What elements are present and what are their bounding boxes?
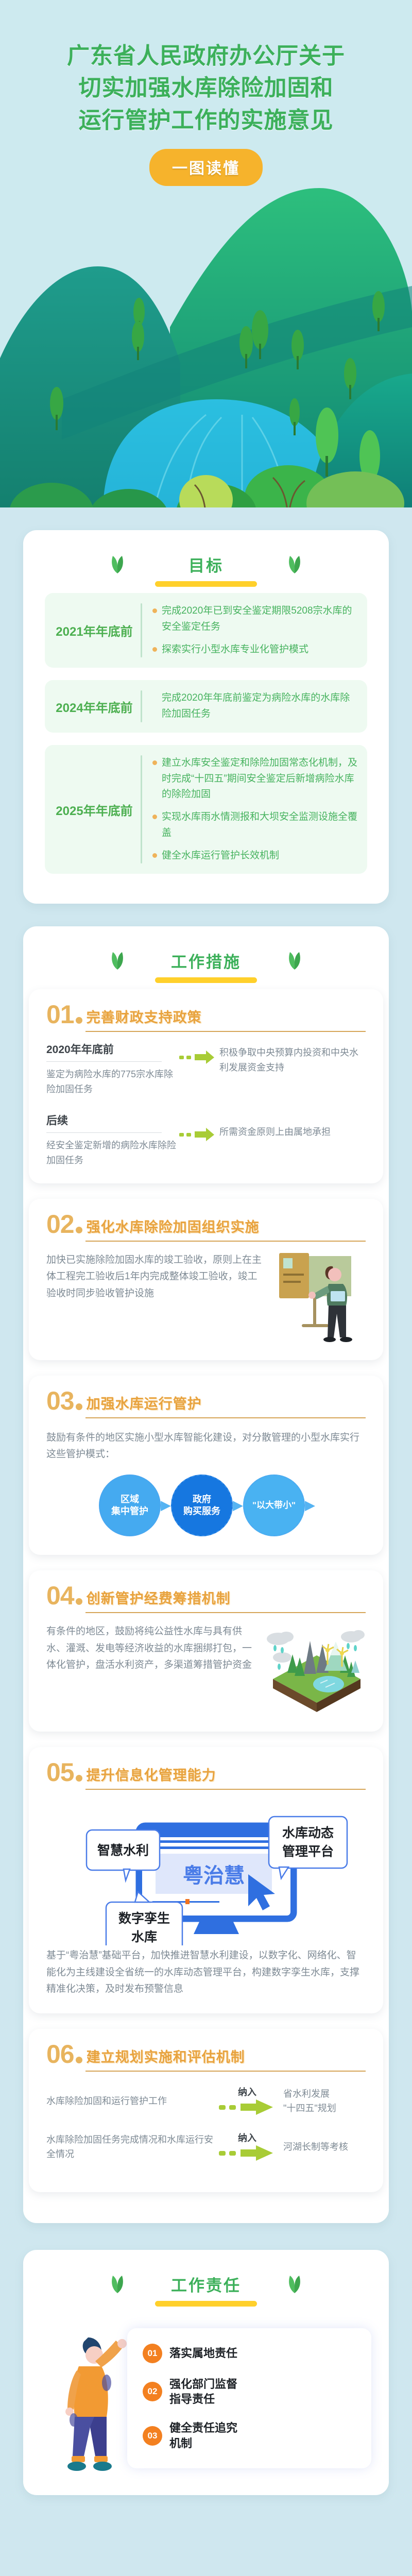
goals-header: 目标 (23, 530, 389, 593)
dashed-arrow-icon (219, 2145, 276, 2161)
flow-connector: 纳入 (216, 2131, 278, 2163)
measure-rule (85, 2071, 366, 2072)
measure-title: 提升信息化管理能力 (87, 1769, 216, 1784)
goal-item: 完成2020年已到安全鉴定期限5208宗水库的安全鉴定任务 (152, 603, 358, 635)
flow-target: 河湖长制等考核 (278, 2140, 366, 2155)
goal-year: 2025年年底前 (54, 801, 141, 819)
goal-item-text: 建立水库安全鉴定和除险加固常态化机制，及时完成“十四五”期间安全鉴定后新增病险水… (162, 755, 358, 803)
read-in-one-picture-badge: 一图读懂 (149, 149, 263, 186)
title-line-1: 广东省人民政府办公厅关于 (0, 40, 412, 72)
measure-card-06: 06 建立规划实施和评估机制 水库除险加固和运行管护工作 纳入 省水利发展 "十… (29, 2029, 383, 2192)
bullet-dot-icon (152, 647, 157, 652)
bullet-dot-icon (152, 760, 157, 765)
measure-head: 03 加强水库运行管护 (46, 1389, 366, 1413)
measure-number: 02 (46, 1212, 74, 1236)
measure-head: 05 提升信息化管理能力 (46, 1760, 366, 1784)
pill-big-leads-small: "以大带小" (243, 1475, 305, 1536)
responsibility-body: 01 落实属地责任 02 强化部门监督 指导责任 03 健全责任追究 机制 (23, 2326, 389, 2495)
responsibility-number: 01 (143, 2344, 162, 2363)
measures-card: 工作措施 01 完善财政支持政策 2020年年底前 鉴定为病险水库的775宗水库… (23, 926, 389, 2223)
bullet-dot-icon (152, 815, 157, 819)
measure-body: 有条件的地区，鼓励将纯公益性水库与具有供水、灌溉、发电等经济收益的水库捆绑打包，… (46, 1623, 263, 1674)
responsibility-item: 01 落实属地责任 (143, 2344, 358, 2363)
flow-divider (46, 1132, 162, 1133)
measure-number: 01 (46, 1003, 74, 1026)
goal-item-text: 完成2020年已到安全鉴定期限5208宗水库的安全鉴定任务 (162, 603, 358, 635)
measure-dot-icon (76, 1598, 82, 1605)
bullet-dot-icon (152, 696, 157, 700)
goal-row: 2021年年底前 完成2020年已到安全鉴定期限5208宗水库的安全鉴定任务 探… (45, 593, 367, 668)
measure-card-04: 04 创新管护经费筹措机制 有条件的地区，鼓励将纯公益性水库与具有供水、灌溉、发… (29, 1570, 383, 1732)
measure-title: 完善财政支持政策 (87, 1011, 202, 1026)
evaluation-flow-row: 水库除险加固和运行管护工作 纳入 省水利发展 "十四五"规划 (46, 2085, 366, 2117)
svg-text:管理平台: 管理平台 (282, 1844, 334, 1859)
callout-reservoir-platform: 水库动态 管理平台 (269, 1817, 347, 1878)
goal-item-text: 探索实行小型水库专业化管护模式 (162, 642, 308, 658)
flow-result: 积极争取中央预算内投资和中央水利发展资金支持 (219, 1041, 366, 1075)
dashed-arrow-icon (219, 2099, 276, 2115)
goal-item: 健全水库运行管护长效机制 (152, 848, 358, 864)
measure-dot-icon (76, 2057, 82, 2063)
flow-when: 2020年年底前 (46, 1041, 179, 1057)
measure-number: 04 (46, 1584, 74, 1607)
svg-text:数字孪生: 数字孪生 (118, 1911, 170, 1926)
measure-title: 强化水库除险加固组织实施 (87, 1221, 260, 1236)
flow-target: 省水利发展 "十四五"规划 (278, 2087, 366, 2116)
responsibility-item: 03 健全责任追究 机制 (143, 2420, 358, 2451)
measure-card-05: 05 提升信息化管理能力 (29, 1747, 383, 2013)
goals-card: 目标 2021年年底前 完成2020年已到安全鉴定期限5208宗水库的安全鉴定任… (23, 530, 389, 904)
person-pointing-illustration (41, 2326, 139, 2470)
mountain-river-illustration (0, 157, 412, 507)
flow-left: 2020年年底前 鉴定为病险水库的775宗水库除险加固任务 (46, 1041, 179, 1097)
smart-water-platform-diagram: 粤治慧 智慧水利 水库动态 管理平台 (46, 1796, 366, 1945)
responsibility-text: 落实属地责任 (169, 2346, 237, 2361)
measure-dot-icon (76, 1227, 82, 1233)
leaf-icon (110, 555, 125, 573)
management-mode-pills: 区域 集中管护 ▶ 政府 购买服务 ▶ "以大带小" ▶ (46, 1475, 366, 1539)
goal-items: 建立水库安全鉴定和除险加固常态化机制，及时完成“十四五”期间安全鉴定后新增病险水… (142, 755, 358, 864)
leaf-icon (287, 951, 302, 970)
pill-label: "以大带小" (252, 1500, 296, 1511)
responsibility-number: 02 (143, 2382, 162, 2401)
isometric-landscape-icon (263, 1623, 366, 1716)
measure-card-03: 03 加强水库运行管护 鼓励有条件的地区实施小型水库智能化建设，对分散管理的小型… (29, 1376, 383, 1555)
measures-underline (155, 977, 257, 983)
flow-what: 鉴定为病险水库的775宗水库除险加固任务 (46, 1067, 179, 1097)
measure-flow-row: 后续 经安全鉴定新增的病险水库除险加固任务 所需资金原则上由属地承担 (46, 1112, 366, 1168)
flow-left: 后续 经安全鉴定新增的病险水库除险加固任务 (46, 1112, 179, 1168)
goal-year: 2021年年底前 (54, 621, 141, 639)
goals-section-title: 目标 (188, 553, 224, 578)
measure-card-01: 01 完善财政支持政策 2020年年底前 鉴定为病险水库的775宗水库除险加固任… (29, 989, 383, 1183)
measure-body-row: 有条件的地区，鼓励将纯公益性水库与具有供水、灌溉、发电等经济收益的水库捆绑打包，… (46, 1623, 366, 1716)
arrow-right-icon: ▶ (161, 1497, 171, 1513)
measure-title: 建立规划实施和评估机制 (87, 2050, 245, 2066)
goal-item-text: 健全水库运行管护长效机制 (162, 848, 279, 864)
flow-label: 纳入 (216, 2131, 278, 2144)
goal-item: 建立水库安全鉴定和除险加固常态化机制，及时完成“十四五”期间安全鉴定后新增病险水… (152, 755, 358, 803)
page-title: 广东省人民政府办公厅关于 切实加强水库除险加固和 运行管护工作的实施意见 (0, 0, 412, 137)
goal-item: 实现水库雨水情测报和大坝安全监测设施全覆盖 (152, 809, 358, 841)
goal-items: 完成2020年已到安全鉴定期限5208宗水库的安全鉴定任务 探索实行小型水库专业… (142, 603, 358, 657)
measure-body: 鼓励有条件的地区实施小型水库智能化建设，对分散管理的小型水库实行这些管护模式： (46, 1430, 366, 1463)
hero-badge-wrap: 一图读懂 (0, 149, 412, 186)
measure-body-row: 加快已实施除险加固水库的竣工验收，原则上在主体工程完工验收后1年内完成整体竣工验… (46, 1252, 366, 1345)
goal-item: 完成2020年年底前鉴定为病险水库的水库除险加固任务 (152, 690, 358, 722)
responsibility-scroll: 01 落实属地责任 02 强化部门监督 指导责任 03 健全责任追究 机制 (127, 2328, 371, 2469)
measure-rule (85, 1612, 366, 1613)
responsibility-text: 健全责任追究 机制 (169, 2420, 237, 2451)
goal-row: 2024年年底前 完成2020年年底前鉴定为病险水库的水库除险加固任务 (45, 680, 367, 733)
measure-number: 03 (46, 1389, 74, 1413)
leaf-icon (287, 2275, 302, 2293)
bullet-dot-icon (152, 853, 157, 858)
measure-rule (85, 1241, 366, 1242)
leaf-icon (110, 2275, 125, 2293)
goal-item: 探索实行小型水库专业化管护模式 (152, 642, 358, 658)
svg-text:水库动态: 水库动态 (282, 1826, 334, 1840)
measure-head: 04 创新管护经费筹措机制 (46, 1584, 366, 1607)
evaluation-flow-row: 水库除险加固任务完成情况和水库运行安全情况 纳入 河湖长制等考核 (46, 2131, 366, 2163)
svg-text:智慧水利: 智慧水利 (97, 1843, 149, 1858)
pill-regional-centralized: 区域 集中管护 (99, 1475, 161, 1536)
flow-what: 经安全鉴定新增的病险水库除险加固任务 (46, 1138, 179, 1168)
arrow-right-icon: ▶ (305, 1497, 315, 1513)
measure-number: 05 (46, 1760, 74, 1784)
flow-label: 纳入 (216, 2085, 278, 2098)
platform-brand: 粤治慧 (183, 1865, 245, 1887)
flow-connector: 纳入 (216, 2085, 278, 2117)
leaf-icon (110, 951, 125, 970)
measure-dot-icon (76, 1403, 82, 1410)
leaf-icon (287, 555, 302, 573)
goal-item-text: 完成2020年年底前鉴定为病险水库的水库除险加固任务 (162, 690, 358, 722)
person-presenting-board-icon (273, 1252, 366, 1345)
responsibility-item: 02 强化部门监督 指导责任 (143, 2377, 358, 2407)
measure-dot-icon (76, 1775, 82, 1782)
measure-head: 01 完善财政支持政策 (46, 1003, 366, 1026)
pill-label: 政府 购买服务 (183, 1494, 220, 1517)
measure-title: 创新管护经费筹措机制 (87, 1592, 231, 1607)
measure-rule (85, 1417, 366, 1418)
measure-head: 06 建立规划实施和评估机制 (46, 2042, 366, 2066)
dashed-arrow-icon (179, 1041, 219, 1066)
measure-body: 基于“粤治慧”基础平台，加快推进智慧水利建设，以数字化、网络化、智能化为主线建设… (46, 1947, 366, 1998)
hero-section: 广东省人民政府办公厅关于 切实加强水库除险加固和 运行管护工作的实施意见 一图读… (0, 0, 412, 507)
flow-when: 后续 (46, 1112, 179, 1128)
title-line-2: 切实加强水库除险加固和 (0, 72, 412, 104)
goal-item-text: 实现水库雨水情测报和大坝安全监测设施全覆盖 (162, 809, 358, 841)
measure-rule (85, 1031, 366, 1032)
arrow-right-icon: ▶ (233, 1497, 243, 1513)
measures-header: 工作措施 (23, 926, 389, 989)
flow-source: 水库除险加固任务完成情况和水库运行安全情况 (46, 2132, 216, 2162)
goal-row: 2025年年底前 建立水库安全鉴定和除险加固常态化机制，及时完成“十四五”期间安… (45, 745, 367, 874)
measure-body: 加快已实施除险加固水库的竣工验收，原则上在主体工程完工验收后1年内完成整体竣工验… (46, 1252, 273, 1302)
measure-title: 加强水库运行管护 (87, 1397, 202, 1413)
responsibility-text: 强化部门监督 指导责任 (169, 2377, 237, 2407)
responsibility-number: 03 (143, 2426, 162, 2446)
flow-source: 水库除险加固和运行管护工作 (46, 2094, 216, 2109)
measure-dot-icon (76, 1017, 82, 1024)
title-line-3: 运行管护工作的实施意见 (0, 105, 412, 137)
flow-result: 所需资金原则上由属地承担 (219, 1112, 366, 1140)
pill-government-purchase: 政府 购买服务 (171, 1475, 233, 1536)
responsibility-card: 工作责任 (23, 2250, 389, 2495)
flow-divider (46, 1061, 162, 1062)
goal-items: 完成2020年年底前鉴定为病险水库的水库除险加固任务 (142, 690, 358, 722)
measures-section-title: 工作措施 (171, 949, 241, 974)
goals-underline (155, 581, 257, 587)
responsibility-header: 工作责任 (23, 2250, 389, 2313)
measure-head: 02 强化水库除险加固组织实施 (46, 1212, 366, 1236)
measure-flow-row: 2020年年底前 鉴定为病险水库的775宗水库除险加固任务 积极争取中央预算内投… (46, 1041, 366, 1097)
responsibility-underline (155, 2301, 257, 2307)
measure-rule (85, 1789, 366, 1790)
infographic-page: 广东省人民政府办公厅关于 切实加强水库除险加固和 运行管护工作的实施意见 一图读… (0, 0, 412, 2576)
responsibility-section-title: 工作责任 (171, 2273, 241, 2298)
goal-year: 2024年年底前 (54, 698, 141, 716)
bullet-dot-icon (152, 608, 157, 613)
pill-label: 区域 集中管护 (111, 1494, 148, 1517)
measure-number: 06 (46, 2042, 74, 2066)
svg-text:水库: 水库 (131, 1930, 157, 1944)
measure-card-02: 02 强化水库除险加固组织实施 加快已实施除险加固水库的竣工验收，原则上在主体工… (29, 1199, 383, 1360)
dashed-arrow-icon (179, 1112, 219, 1144)
